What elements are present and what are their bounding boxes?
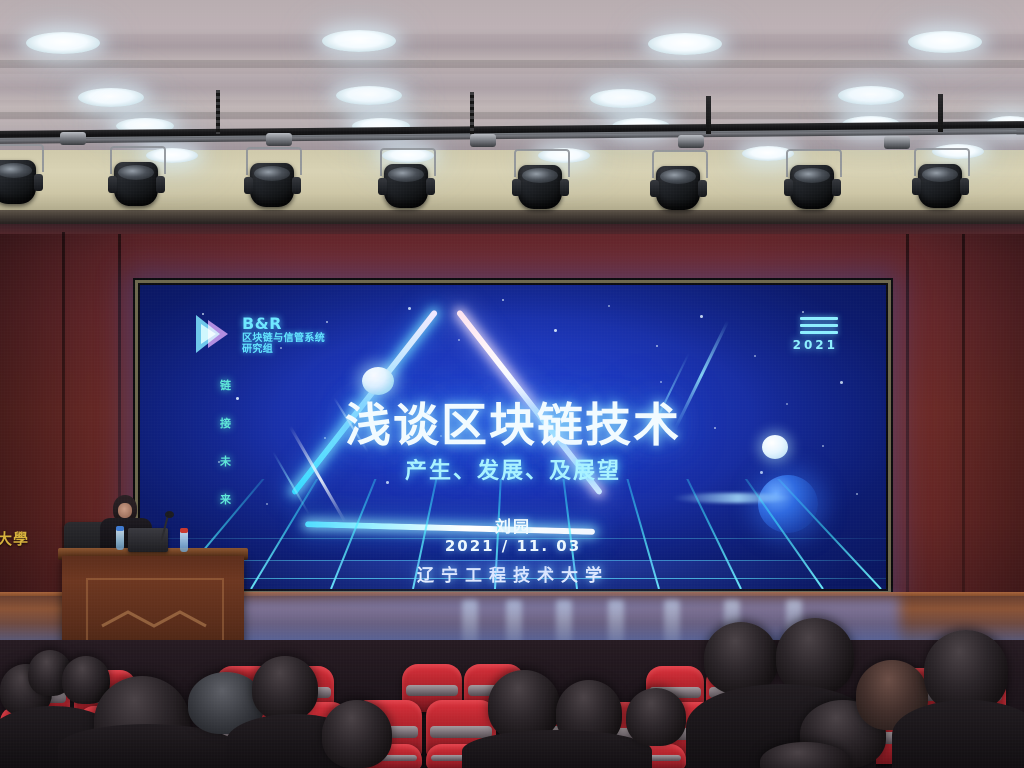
truss-clamp	[884, 136, 910, 149]
ceiling-downlight	[322, 30, 396, 52]
year-bar-icon	[800, 317, 838, 320]
microphone-icon	[165, 511, 174, 518]
ceiling-downlight	[78, 88, 144, 107]
slide-organization: 辽宁工程技术大学	[140, 561, 886, 586]
ceiling-downlight	[590, 89, 656, 108]
logo-org-line-2: 研究组	[242, 344, 325, 355]
truss-clamp	[470, 134, 496, 147]
water-bottle-cap	[180, 528, 188, 533]
audience-shoulders	[892, 700, 1024, 768]
wall-panel-seam	[906, 234, 909, 604]
slide-year-text: 2021	[793, 338, 838, 352]
ceiling-downlight	[648, 33, 722, 55]
slide-date: 2021 / 11. 03	[140, 537, 886, 555]
audience-head	[776, 618, 854, 694]
logo-org-line-1: 区块链与信管系统	[242, 333, 325, 344]
ceiling-downlight	[838, 86, 904, 105]
audience-shoulders	[462, 730, 652, 768]
slide-year-mark: 2021	[793, 317, 838, 352]
slide-subtitle: 产生、发展、及展望	[140, 453, 886, 485]
ceiling-downlight	[908, 31, 982, 53]
audience-head	[322, 700, 392, 768]
truss-clamp	[266, 133, 292, 146]
ceiling-downlight	[336, 86, 402, 105]
wall-top-trim	[0, 224, 1024, 234]
truss-drop	[706, 96, 711, 134]
truss-clamp	[60, 132, 86, 145]
water-bottle	[180, 530, 188, 552]
year-bar-icon	[800, 331, 838, 334]
audience-head	[252, 656, 318, 720]
water-bottle	[116, 528, 124, 550]
play-triangle-icon	[196, 315, 236, 353]
slide-speaker-name: 刘园	[140, 513, 886, 537]
truss-chain	[470, 92, 474, 134]
water-bottle-cap	[116, 526, 124, 531]
truss-chain	[216, 90, 220, 134]
year-bar-icon	[800, 324, 838, 327]
audience-head	[704, 622, 778, 694]
ceiling-downlight	[26, 32, 100, 54]
logo-brand-text: B&R	[242, 315, 325, 333]
research-group-logo: B&R 区块链与信管系统 研究组	[196, 315, 325, 355]
presenter-face	[118, 503, 132, 518]
university-wall-seal: 大學	[0, 528, 29, 549]
truss-drop	[938, 94, 943, 132]
audience-head	[626, 688, 686, 746]
presentation-slide[interactable]: B&R 区块链与信管系统 研究组 链 接 未 来 2021 浅谈区块链技术 产生…	[140, 285, 886, 589]
slide-main-title: 浅谈区块链技术	[140, 389, 886, 455]
wall-panel-seam	[962, 234, 965, 600]
podium-zigzag-motif	[100, 608, 208, 630]
lecture-hall-photo: 大學	[0, 0, 1024, 768]
truss-clamp	[678, 135, 704, 148]
soffit-lip	[0, 210, 1024, 224]
motto-char: 来	[220, 491, 231, 507]
